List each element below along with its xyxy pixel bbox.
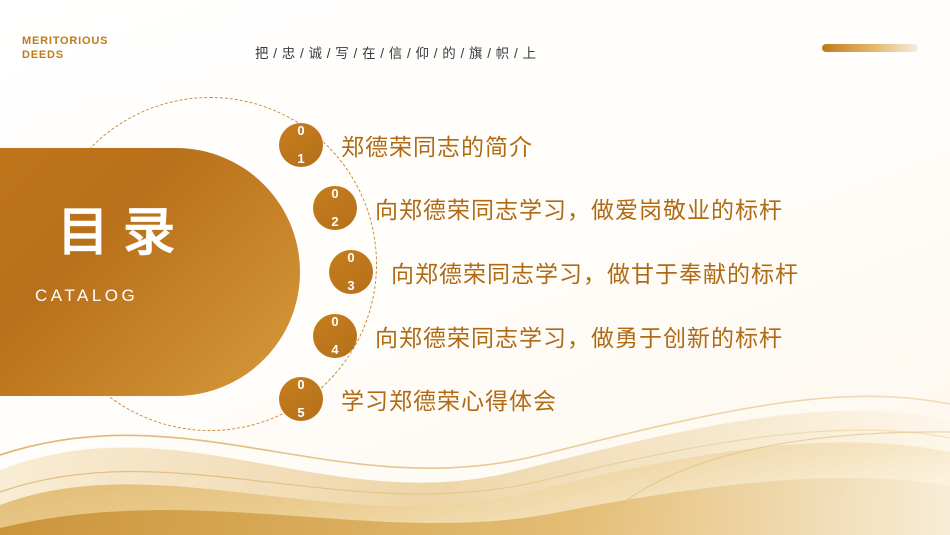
list-item[interactable]: 0 1 郑德荣同志的简介 xyxy=(279,123,533,167)
item-number-top: 0 xyxy=(347,251,354,265)
list-item[interactable]: 0 4 向郑德荣同志学习，做勇于创新的标杆 xyxy=(313,314,783,358)
item-number-badge: 0 1 xyxy=(279,123,323,167)
item-label: 向郑德荣同志学习，做甘于奉献的标杆 xyxy=(391,255,799,289)
catalog-panel xyxy=(0,148,300,396)
item-number-top: 0 xyxy=(297,124,304,138)
item-number-bottom: 4 xyxy=(331,343,338,357)
item-number-bottom: 1 xyxy=(297,152,304,166)
item-label: 向郑德荣同志学习，做勇于创新的标杆 xyxy=(375,319,783,353)
item-number-top: 0 xyxy=(331,187,338,201)
list-item[interactable]: 0 2 向郑德荣同志学习，做爱岗敬业的标杆 xyxy=(313,186,783,230)
list-item[interactable]: 0 5 学习郑德荣心得体会 xyxy=(279,377,557,421)
header-accent-bar xyxy=(822,44,918,52)
catalog-subtitle: CATALOG xyxy=(35,286,138,306)
item-number-bottom: 5 xyxy=(297,406,304,420)
brand-line-1: MERITORIOUS xyxy=(22,34,108,48)
item-number-badge: 0 3 xyxy=(329,250,373,294)
item-label: 郑德荣同志的简介 xyxy=(341,128,533,162)
brand-logo: MERITORIOUS DEEDS xyxy=(22,34,108,62)
item-label: 向郑德荣同志学习，做爱岗敬业的标杆 xyxy=(375,191,783,225)
item-number-badge: 0 5 xyxy=(279,377,323,421)
item-number-badge: 0 4 xyxy=(313,314,357,358)
slide-canvas: MERITORIOUS DEEDS 把 / 忠 / 诚 / 写 / 在 / 信 … xyxy=(0,0,950,535)
item-number-bottom: 3 xyxy=(347,279,354,293)
item-number-top: 0 xyxy=(297,378,304,392)
item-number-top: 0 xyxy=(331,315,338,329)
item-number-bottom: 2 xyxy=(331,215,338,229)
catalog-title: 目录 xyxy=(57,203,189,263)
list-item[interactable]: 0 3 向郑德荣同志学习，做甘于奉献的标杆 xyxy=(329,250,799,294)
brand-line-2: DEEDS xyxy=(22,48,108,62)
header-subtitle: 把 / 忠 / 诚 / 写 / 在 / 信 / 仰 / 的 / 旗 / 帜 / … xyxy=(255,42,537,62)
item-number-badge: 0 2 xyxy=(313,186,357,230)
item-label: 学习郑德荣心得体会 xyxy=(341,382,557,416)
